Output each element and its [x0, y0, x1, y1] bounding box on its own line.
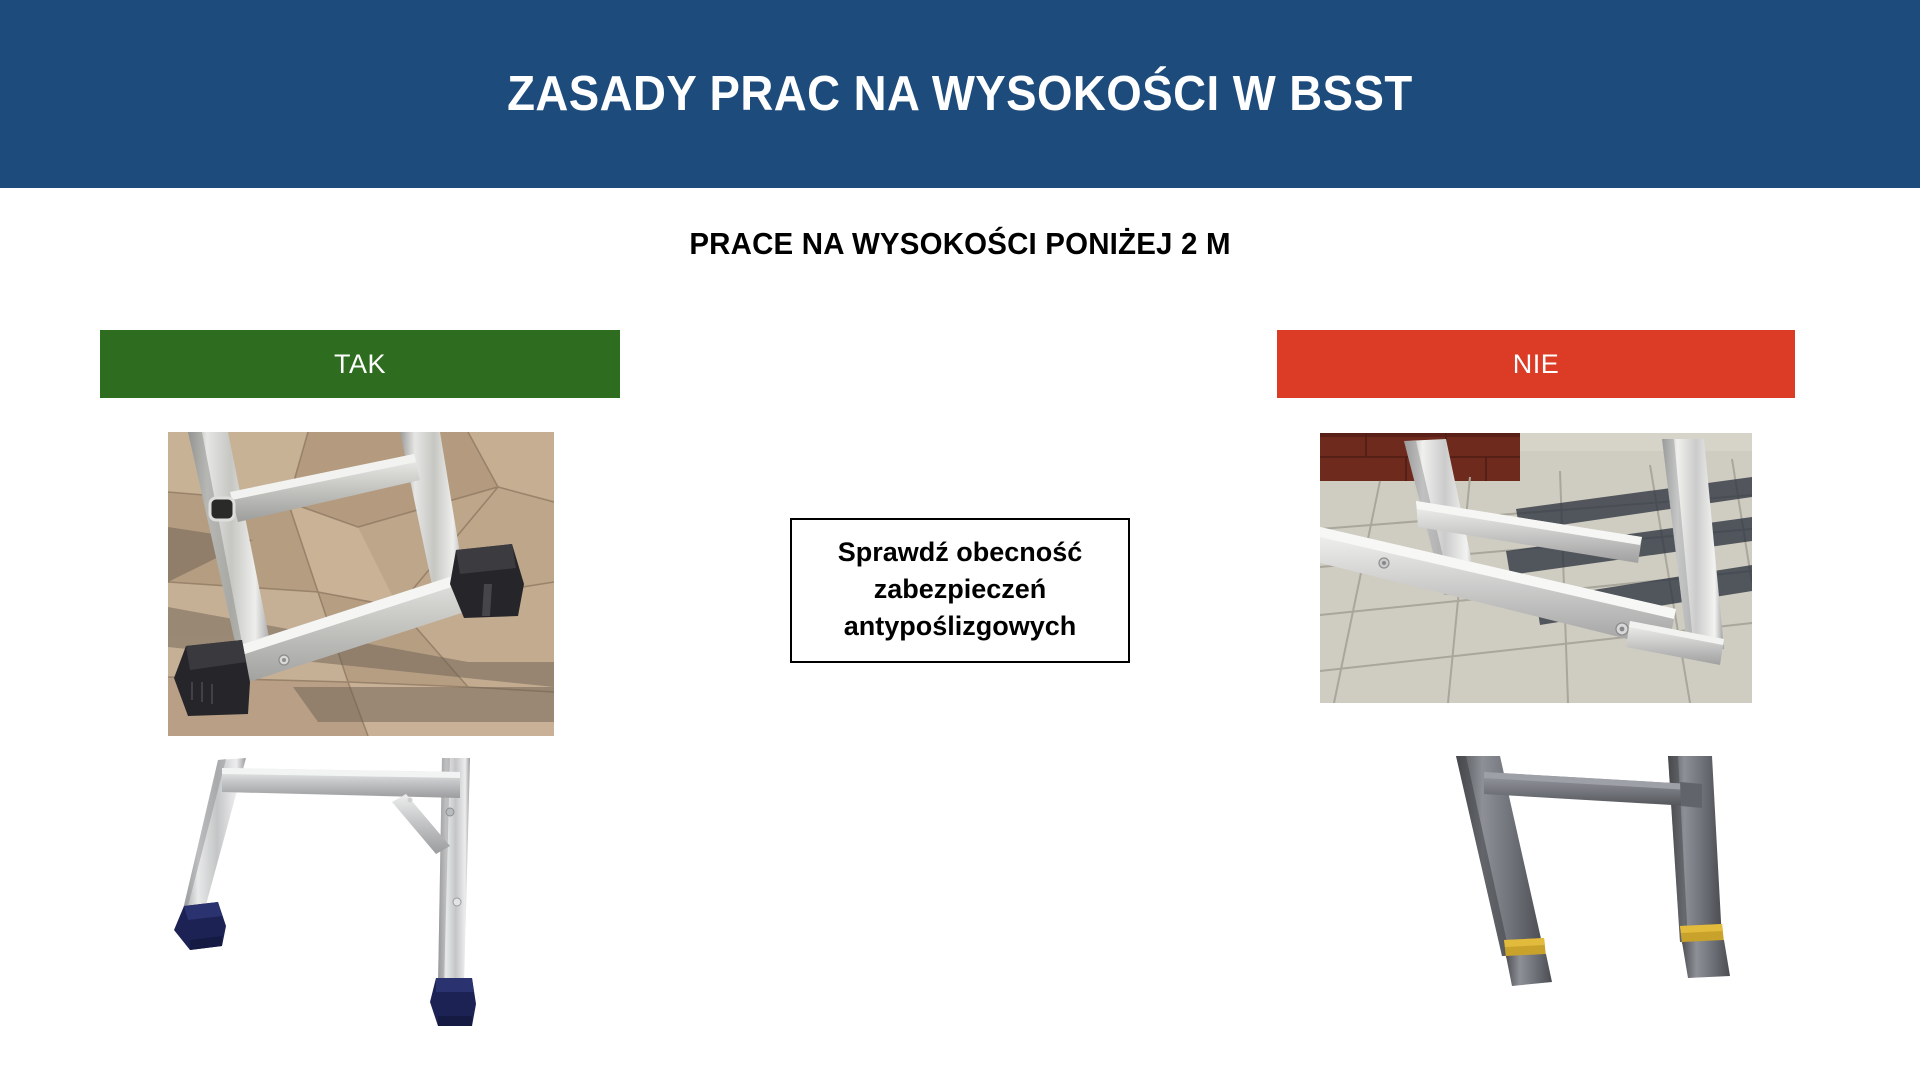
verdict-label-yes: TAK [334, 349, 386, 380]
header-banner: ZASADY PRAC NA WYSOKOŚCI W BSST [0, 0, 1920, 188]
callout-box: Sprawdź obecność zabezpieczeń antypośliz… [790, 518, 1130, 663]
verdict-label-no: NIE [1513, 349, 1560, 380]
photo-stepladder-with-blue-rubber-caps-graphic [160, 750, 520, 1080]
verdict-bar-yes: TAK [100, 330, 620, 398]
photo-stepladder-with-blue-rubber-caps [160, 750, 520, 1080]
photo-ladder-base-without-antislip-feet-graphic [1320, 433, 1752, 703]
callout-line-3: antypoślizgowych [802, 608, 1118, 645]
callout-line-1: Sprawdź obecność [802, 534, 1118, 571]
page-title: ZASADY PRAC NA WYSOKOŚCI W BSST [507, 66, 1413, 122]
verdict-bar-no: NIE [1277, 330, 1795, 398]
photo-ladder-base-with-antislip-feet-graphic [168, 432, 554, 736]
section-subtitle: PRACE NA WYSOKOŚCI PONIŻEJ 2 M [48, 226, 1872, 262]
photo-ladder-base-with-antislip-feet [168, 432, 554, 736]
photo-ladder-legs-worn-missing-feet-graphic [1440, 750, 1770, 1046]
photo-ladder-legs-worn-missing-feet [1440, 750, 1770, 1046]
photo-ladder-base-without-antislip-feet [1320, 433, 1752, 703]
callout-line-2: zabezpieczeń [802, 571, 1118, 608]
